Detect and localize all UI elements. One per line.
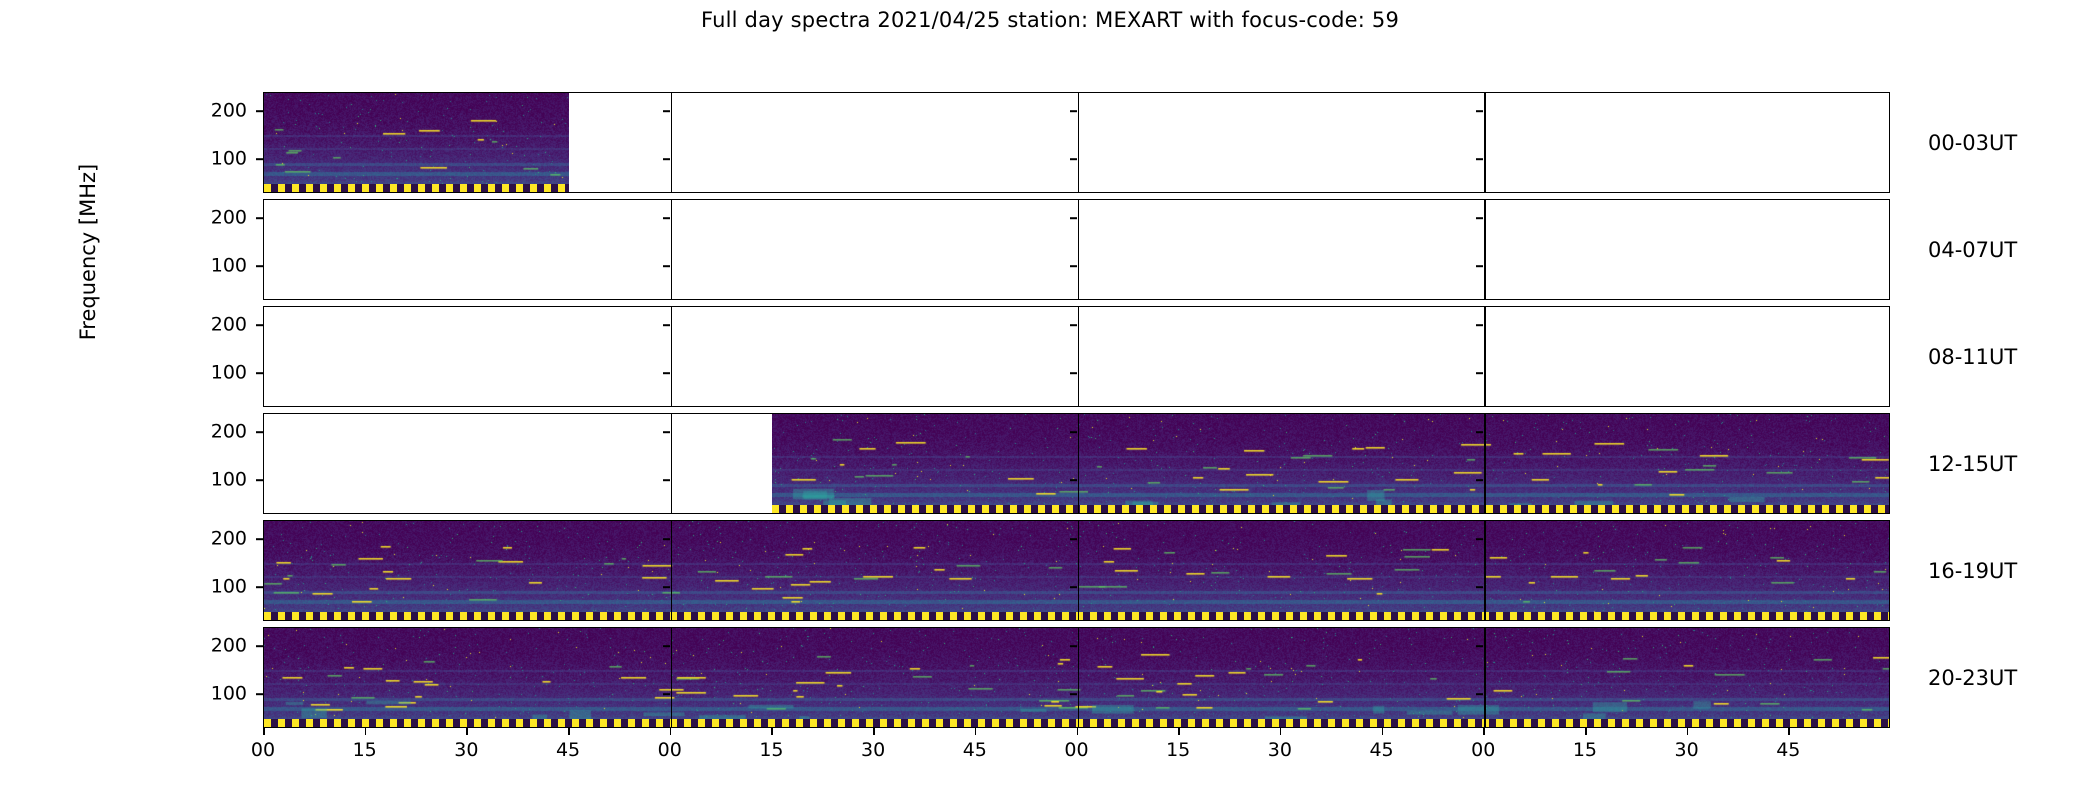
y-tick-mark-inner bbox=[1070, 538, 1077, 540]
y-tick-mark bbox=[256, 538, 263, 540]
y-tick-mark-inner bbox=[1070, 587, 1077, 589]
y-tick-mark bbox=[256, 645, 263, 647]
y-tick-mark bbox=[256, 110, 263, 112]
x-tick-mark bbox=[1788, 728, 1790, 735]
x-tick-label: 45 bbox=[556, 739, 580, 761]
x-tick-mark bbox=[670, 728, 672, 735]
y-tick-label: 100 bbox=[211, 471, 247, 490]
y-tick-mark bbox=[256, 373, 263, 375]
y-tick-label: 200 bbox=[211, 637, 247, 656]
y-tick-label: 200 bbox=[211, 423, 247, 442]
y-tick-label: 200 bbox=[211, 316, 247, 335]
hour-divider bbox=[1484, 307, 1486, 406]
hour-divider bbox=[1484, 521, 1486, 620]
y-tick-mark-inner bbox=[1070, 373, 1077, 375]
y-tick-mark-inner bbox=[1476, 538, 1483, 540]
y-tick-label: 100 bbox=[211, 685, 247, 704]
hour-divider bbox=[671, 521, 673, 620]
x-tick-label: 00 bbox=[1064, 739, 1088, 761]
y-tick-mark-inner bbox=[1070, 324, 1077, 326]
row-label-08-11ut: 08-11UT bbox=[1928, 345, 2017, 369]
spectrogram-row-12-15ut[interactable] bbox=[263, 413, 1890, 514]
y-tick-mark-inner bbox=[663, 217, 670, 219]
y-tick-mark-inner bbox=[1476, 266, 1483, 268]
y-tick-mark-inner bbox=[1070, 110, 1077, 112]
x-tick-mark bbox=[568, 728, 570, 735]
y-tick-mark-inner bbox=[1070, 266, 1077, 268]
y-tick-mark bbox=[256, 431, 263, 433]
y-tick-mark bbox=[256, 694, 263, 696]
x-tick-label: 00 bbox=[1471, 739, 1495, 761]
y-tick-mark-inner bbox=[663, 645, 670, 647]
y-tick-mark-inner bbox=[663, 110, 670, 112]
y-tick-label: 100 bbox=[211, 150, 247, 169]
x-tick-mark bbox=[1280, 728, 1282, 735]
spectrogram-row-16-19ut[interactable] bbox=[263, 520, 1890, 621]
y-tick-mark-inner bbox=[1476, 645, 1483, 647]
hour-divider bbox=[1484, 414, 1486, 513]
spectrogram-row-20-23ut[interactable] bbox=[263, 627, 1890, 728]
hour-divider bbox=[671, 628, 673, 727]
x-tick-label: 15 bbox=[1573, 739, 1597, 761]
y-tick-label: 100 bbox=[211, 578, 247, 597]
x-tick-label: 15 bbox=[1166, 739, 1190, 761]
y-tick-label: 100 bbox=[211, 364, 247, 383]
y-tick-mark-inner bbox=[1070, 431, 1077, 433]
hour-divider bbox=[1078, 414, 1080, 513]
y-tick-mark-inner bbox=[663, 587, 670, 589]
x-tick-mark bbox=[365, 728, 367, 735]
x-tick-mark bbox=[1687, 728, 1689, 735]
x-tick-label: 45 bbox=[963, 739, 987, 761]
x-tick-mark bbox=[1483, 728, 1485, 735]
hour-divider bbox=[1078, 93, 1080, 192]
y-tick-mark-inner bbox=[1476, 431, 1483, 433]
spectrogram-row-08-11ut[interactable] bbox=[263, 306, 1890, 407]
y-tick-mark-inner bbox=[1070, 645, 1077, 647]
y-tick-mark-inner bbox=[663, 266, 670, 268]
y-tick-mark bbox=[256, 217, 263, 219]
time-marker-band bbox=[772, 505, 1890, 513]
x-tick-label: 15 bbox=[759, 739, 783, 761]
x-tick-mark bbox=[1585, 728, 1587, 735]
y-tick-label: 200 bbox=[211, 209, 247, 228]
x-tick-mark bbox=[975, 728, 977, 735]
y-tick-label: 100 bbox=[211, 257, 247, 276]
hour-divider bbox=[671, 307, 673, 406]
row-label-00-03ut: 00-03UT bbox=[1928, 131, 2017, 155]
x-tick-label: 30 bbox=[454, 739, 478, 761]
x-tick-label: 45 bbox=[1776, 739, 1800, 761]
y-tick-mark-inner bbox=[1476, 694, 1483, 696]
x-tick-label: 00 bbox=[658, 739, 682, 761]
spectrogram-data bbox=[264, 93, 569, 192]
hour-divider bbox=[671, 414, 673, 513]
y-tick-label: 200 bbox=[211, 102, 247, 121]
y-tick-mark-inner bbox=[1070, 217, 1077, 219]
y-tick-mark-inner bbox=[663, 159, 670, 161]
y-tick-mark-inner bbox=[663, 694, 670, 696]
x-tick-label: 30 bbox=[1675, 739, 1699, 761]
y-tick-mark-inner bbox=[1476, 373, 1483, 375]
hour-divider bbox=[1484, 93, 1486, 192]
y-tick-mark-inner bbox=[663, 431, 670, 433]
hour-divider bbox=[1078, 200, 1080, 299]
y-tick-mark-inner bbox=[1476, 110, 1483, 112]
spectrogram-row-00-03ut[interactable] bbox=[263, 92, 1890, 193]
y-tick-mark bbox=[256, 266, 263, 268]
y-tick-mark bbox=[256, 324, 263, 326]
time-marker-band bbox=[264, 184, 569, 192]
spectrogram-row-04-07ut[interactable] bbox=[263, 199, 1890, 300]
x-tick-mark bbox=[1178, 728, 1180, 735]
hour-divider bbox=[1078, 521, 1080, 620]
y-tick-mark-inner bbox=[1476, 587, 1483, 589]
x-tick-mark bbox=[1077, 728, 1079, 735]
hour-divider bbox=[1484, 628, 1486, 727]
y-tick-label: 200 bbox=[211, 530, 247, 549]
y-axis-label: Frequency [MHz] bbox=[76, 102, 100, 402]
y-tick-mark-inner bbox=[1476, 159, 1483, 161]
x-tick-mark bbox=[873, 728, 875, 735]
hour-divider bbox=[671, 93, 673, 192]
row-label-20-23ut: 20-23UT bbox=[1928, 666, 2017, 690]
y-tick-mark bbox=[256, 159, 263, 161]
y-tick-mark-inner bbox=[1476, 480, 1483, 482]
y-tick-mark bbox=[256, 480, 263, 482]
row-label-12-15ut: 12-15UT bbox=[1928, 452, 2017, 476]
x-tick-mark bbox=[771, 728, 773, 735]
y-tick-mark-inner bbox=[663, 373, 670, 375]
hour-divider bbox=[1484, 200, 1486, 299]
x-tick-mark bbox=[263, 728, 265, 735]
x-tick-label: 30 bbox=[1268, 739, 1292, 761]
y-tick-mark-inner bbox=[663, 538, 670, 540]
y-tick-mark-inner bbox=[1476, 217, 1483, 219]
y-tick-mark-inner bbox=[1070, 480, 1077, 482]
x-tick-label: 00 bbox=[251, 739, 275, 761]
x-tick-label: 15 bbox=[353, 739, 377, 761]
hour-divider bbox=[671, 200, 673, 299]
x-tick-mark bbox=[466, 728, 468, 735]
y-tick-mark-inner bbox=[1070, 159, 1077, 161]
y-tick-mark-inner bbox=[663, 480, 670, 482]
row-label-04-07ut: 04-07UT bbox=[1928, 238, 2017, 262]
x-tick-label: 30 bbox=[861, 739, 885, 761]
y-tick-mark bbox=[256, 587, 263, 589]
x-tick-mark bbox=[1382, 728, 1384, 735]
y-tick-mark-inner bbox=[1070, 694, 1077, 696]
y-tick-mark-inner bbox=[663, 324, 670, 326]
y-tick-mark-inner bbox=[1476, 324, 1483, 326]
x-tick-label: 45 bbox=[1369, 739, 1393, 761]
hour-divider bbox=[1078, 628, 1080, 727]
page-title: Full day spectra 2021/04/25 station: MEX… bbox=[0, 8, 2100, 32]
spectrogram-data bbox=[772, 414, 1890, 513]
hour-divider bbox=[1078, 307, 1080, 406]
row-label-16-19ut: 16-19UT bbox=[1928, 559, 2017, 583]
